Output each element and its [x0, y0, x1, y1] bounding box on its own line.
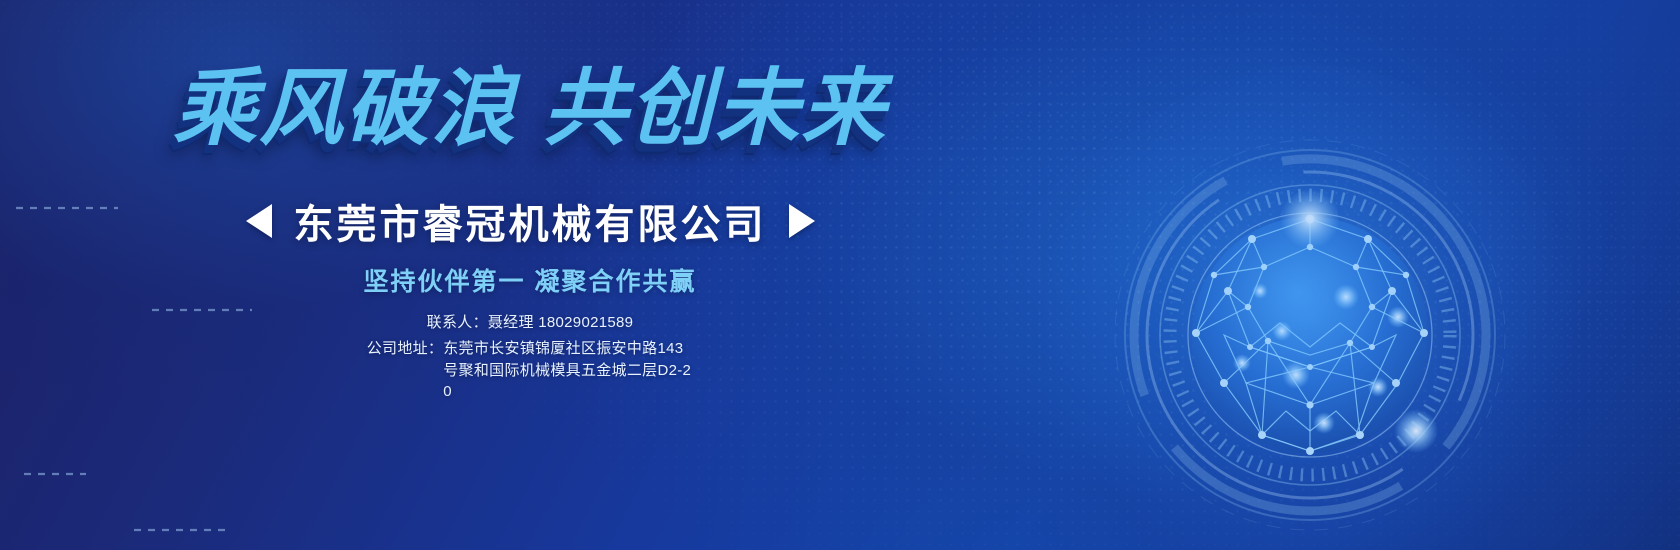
headline-part-1: 乘风破浪 [173, 61, 517, 155]
right-triangle-icon [789, 204, 815, 238]
company-name-row: 东莞市睿冠机械有限公司 [0, 192, 1060, 250]
globe-graphic [1110, 135, 1510, 535]
promotional-banner: 乘风破浪共创未来 东莞市睿冠机械有限公司 坚持伙伴第一 凝聚合作共赢 联系人： … [0, 0, 1680, 550]
contact-person-line: 联系人： 聂经理 18029021589 [427, 312, 634, 334]
contact-address-line: 公司地址： 东莞市长安镇锦厦社区振安中路143号聚和国际机械模具五金城二层D2-… [367, 338, 694, 403]
contact-block: 联系人： 聂经理 18029021589 公司地址： 东莞市长安镇锦厦社区振安中… [0, 312, 1060, 403]
contact-address-label: 公司地址： [367, 338, 444, 360]
headline: 乘风破浪共创未来 [0, 66, 1060, 150]
contact-person-value: 聂经理 18029021589 [488, 312, 633, 334]
company-name: 东莞市睿冠机械有限公司 [294, 192, 767, 250]
tagline: 坚持伙伴第一 凝聚合作共赢 [0, 262, 1060, 298]
contact-person-label: 联系人： [427, 312, 488, 334]
contact-address-value: 东莞市长安镇锦厦社区振安中路143号聚和国际机械模具五金城二层D2-20 [443, 338, 693, 403]
banner-content: 乘风破浪共创未来 东莞市睿冠机械有限公司 坚持伙伴第一 凝聚合作共赢 联系人： … [0, 0, 1060, 550]
left-triangle-icon [246, 204, 272, 238]
headline-part-2: 共创未来 [543, 61, 887, 155]
